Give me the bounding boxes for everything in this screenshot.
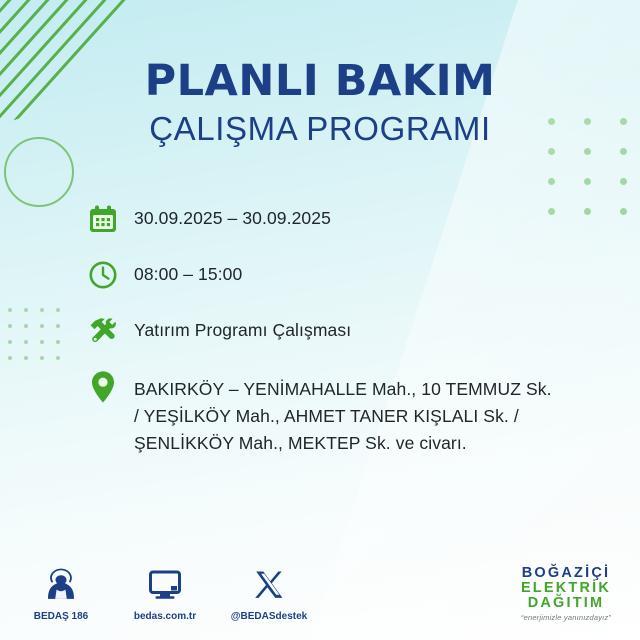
work-type-text: Yatırım Programı Çalışması xyxy=(134,314,556,344)
address-text: BAKIRKÖY – YENİMAHALLE Mah., 10 TEMMUZ S… xyxy=(134,370,556,457)
contact-x-account[interactable]: @BEDASdestek xyxy=(230,566,308,624)
info-list: 30.09.2025 – 30.09.2025 08:00 – 15:00 xyxy=(86,202,556,457)
info-row-work-type: Yatırım Programı Çalışması xyxy=(86,314,556,348)
dot-grid-left-decoration xyxy=(8,308,72,372)
contact-phone[interactable]: BEDAŞ 186 xyxy=(22,566,100,624)
monitor-icon xyxy=(126,566,204,600)
info-row-time: 08:00 – 15:00 xyxy=(86,258,556,292)
planned-maintenance-poster: PLANLI BAKIM ÇALIŞMA PROGRAMI 30 xyxy=(0,0,640,640)
title-line-2: ÇALIŞMA PROGRAMI xyxy=(0,108,640,150)
contact-website[interactable]: bedas.com.tr xyxy=(126,566,204,624)
time-range-text: 08:00 – 15:00 xyxy=(134,258,556,288)
page-title: PLANLI BAKIM ÇALIŞMA PROGRAMI xyxy=(0,56,640,150)
logo-tagline: “enerjimizle yanınızdayız” xyxy=(502,613,630,622)
contact-website-label: bedas.com.tr xyxy=(134,611,196,622)
headset-support-icon xyxy=(22,566,100,600)
title-line-1: PLANLI BAKIM xyxy=(0,56,640,106)
bedas-logo: BOĞAZİÇİ ELEKTRİK DAĞITIM “enerjimizle y… xyxy=(502,566,630,622)
info-row-date: 30.09.2025 – 30.09.2025 xyxy=(86,202,556,236)
calendar-icon xyxy=(86,202,120,236)
location-pin-icon xyxy=(86,370,120,404)
contact-phone-label: BEDAŞ 186 xyxy=(34,611,88,622)
tools-icon xyxy=(86,314,120,348)
info-row-address: BAKIRKÖY – YENİMAHALLE Mah., 10 TEMMUZ S… xyxy=(86,370,556,457)
contact-x-label: @BEDASdestek xyxy=(231,611,307,622)
x-twitter-icon xyxy=(230,566,308,600)
logo-line-2: ELEKTRİK xyxy=(502,581,630,596)
logo-line-3: DAĞITIM xyxy=(502,596,630,611)
footer: BEDAŞ 186 bedas.com.tr xyxy=(0,556,640,628)
contact-list: BEDAŞ 186 bedas.com.tr xyxy=(22,566,308,624)
date-range-text: 30.09.2025 – 30.09.2025 xyxy=(134,202,556,232)
clock-icon xyxy=(86,258,120,292)
logo-line-1: BOĞAZİÇİ xyxy=(502,566,630,581)
